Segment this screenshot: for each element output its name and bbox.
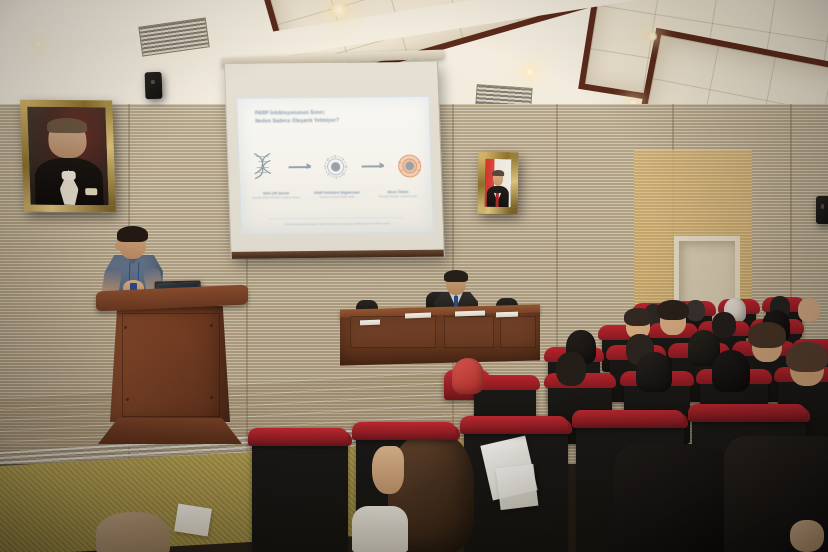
audience-paper-2: [496, 464, 539, 510]
seat-cap-red-3: [460, 416, 568, 434]
audience-hair-b4: [748, 322, 786, 348]
seat-cap-red-2: [352, 422, 456, 440]
audience-paper-3: [174, 504, 212, 537]
audience-hair-c5: [786, 342, 828, 372]
audience-headscarf-red: [452, 358, 484, 394]
foreground-person-face: [372, 446, 404, 494]
seat-cap-red-5: [688, 404, 806, 422]
seat-cap-red-1: [248, 428, 348, 446]
seat-cap-red-4: [572, 410, 684, 428]
audience-head-a3: [712, 312, 736, 338]
audience-head-c2: [556, 352, 586, 386]
audience-headscarf-c3: [636, 352, 672, 392]
foreground-person-sleeve: [352, 506, 408, 552]
audience-headscarf-c4: [712, 350, 750, 392]
audience-right-hand: [790, 520, 824, 552]
audience-hair-a1: [624, 308, 652, 326]
audience-left-head: [96, 512, 170, 552]
auditorium-photo: PARP İnhibisyonunun Sınırı: Neden Sadece…: [0, 0, 828, 552]
seat-d1: [252, 436, 348, 552]
audience-head-b5: [798, 298, 820, 322]
audience: [0, 0, 828, 552]
audience-hair-a2: [657, 300, 689, 320]
audience-right-coat-1: [614, 444, 724, 552]
